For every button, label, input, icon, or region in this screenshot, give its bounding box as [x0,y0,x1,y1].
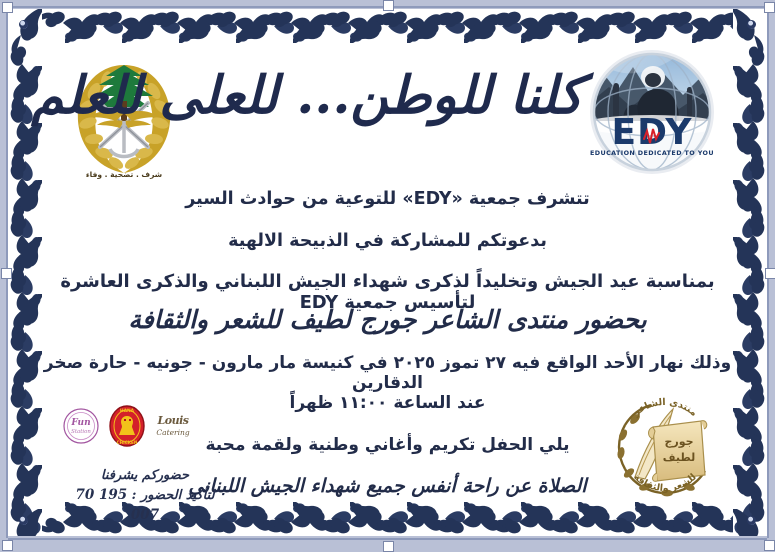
army-emblem-motto: شرف . تضحية . وفاء [86,170,162,179]
resize-handle-bottom-right[interactable] [764,540,775,551]
selection-edge-bottom [8,538,767,540]
louis-catering-subtitle: Catering [156,429,189,437]
corner-ornament-bottom-right [747,516,756,525]
edy-logo: EDY EDUCATION DEDICATED TO YOU [587,47,717,177]
hana-chicken-logo: HANA CHICKEN [108,405,146,447]
invitation-flyer[interactable]: شرف . تضحية . وفاء [8,9,767,536]
rsvp-confirm-label: لتأكيد الحضور : [132,488,215,503]
hana-chicken-text-top: HANA [120,408,135,414]
editor-canvas: شرف . تضحية . وفاء [0,0,775,552]
rsvp-note: حضوركم يشرفنا [60,467,230,486]
fun-station-subtitle: Station [71,429,91,435]
corner-ornament-top-right [747,20,756,29]
forum-seal-scroll-line2: لطيف [663,451,695,464]
flyer-line-date-venue: وذلك نهار الأحد الواقع فيه ٢٧ تموز ٢٠٢٥ … [42,353,733,393]
resize-handle-top-left[interactable] [2,2,13,13]
corner-ornament-bottom-left [19,516,28,525]
rsvp-block: حضوركم يشرفنا لتأكيد الحضور : 70 195 007 [60,467,230,526]
resize-handle-bottom-left[interactable] [2,540,13,551]
sponsor-logo-row: Louis Catering HANA CHICKEN Fun S [62,405,192,447]
forum-seal-scroll-line1: جورج [664,435,693,449]
flyer-line-invitation: بدعوتكم للمشاركة في الذبيحة الالهية [42,231,733,251]
flyer-line-organization: تتشرف جمعية «EDY» للتوعية من حوادث السير [42,189,733,209]
flyer-headline: كلنا للوطن... للعلى للعلم [192,69,583,124]
flyer-line-forum-presence: بحضور منتدى الشاعر جورج لطيف للشعر والثق… [42,305,733,334]
corner-ornament-top-left [19,20,28,29]
edy-tagline: EDUCATION DEDICATED TO YOU [590,149,714,157]
fun-station-name: Fun [70,418,90,428]
resize-handle-middle-right[interactable] [765,268,775,279]
ornamental-border-right [733,9,767,536]
louis-catering-name: Louis [158,415,189,426]
louis-catering-logo: Louis Catering [154,405,192,447]
flyer-content: شرف . تضحية . وفاء [42,43,733,502]
ornamental-border-top [8,9,767,43]
rsvp-confirm-line: لتأكيد الحضور : 70 195 007 [60,486,230,526]
resize-handle-middle-left[interactable] [1,268,12,279]
resize-handle-bottom-center[interactable] [383,541,394,552]
fun-station-logo: Fun Station [62,405,100,447]
resize-handle-top-center[interactable] [383,0,394,11]
poetry-forum-seal: جورج لطيف منتدى الشاعر للشعر والثقافة [609,391,721,503]
resize-handle-top-right[interactable] [764,2,775,13]
hana-chicken-text-bottom: CHICKEN [117,440,138,445]
